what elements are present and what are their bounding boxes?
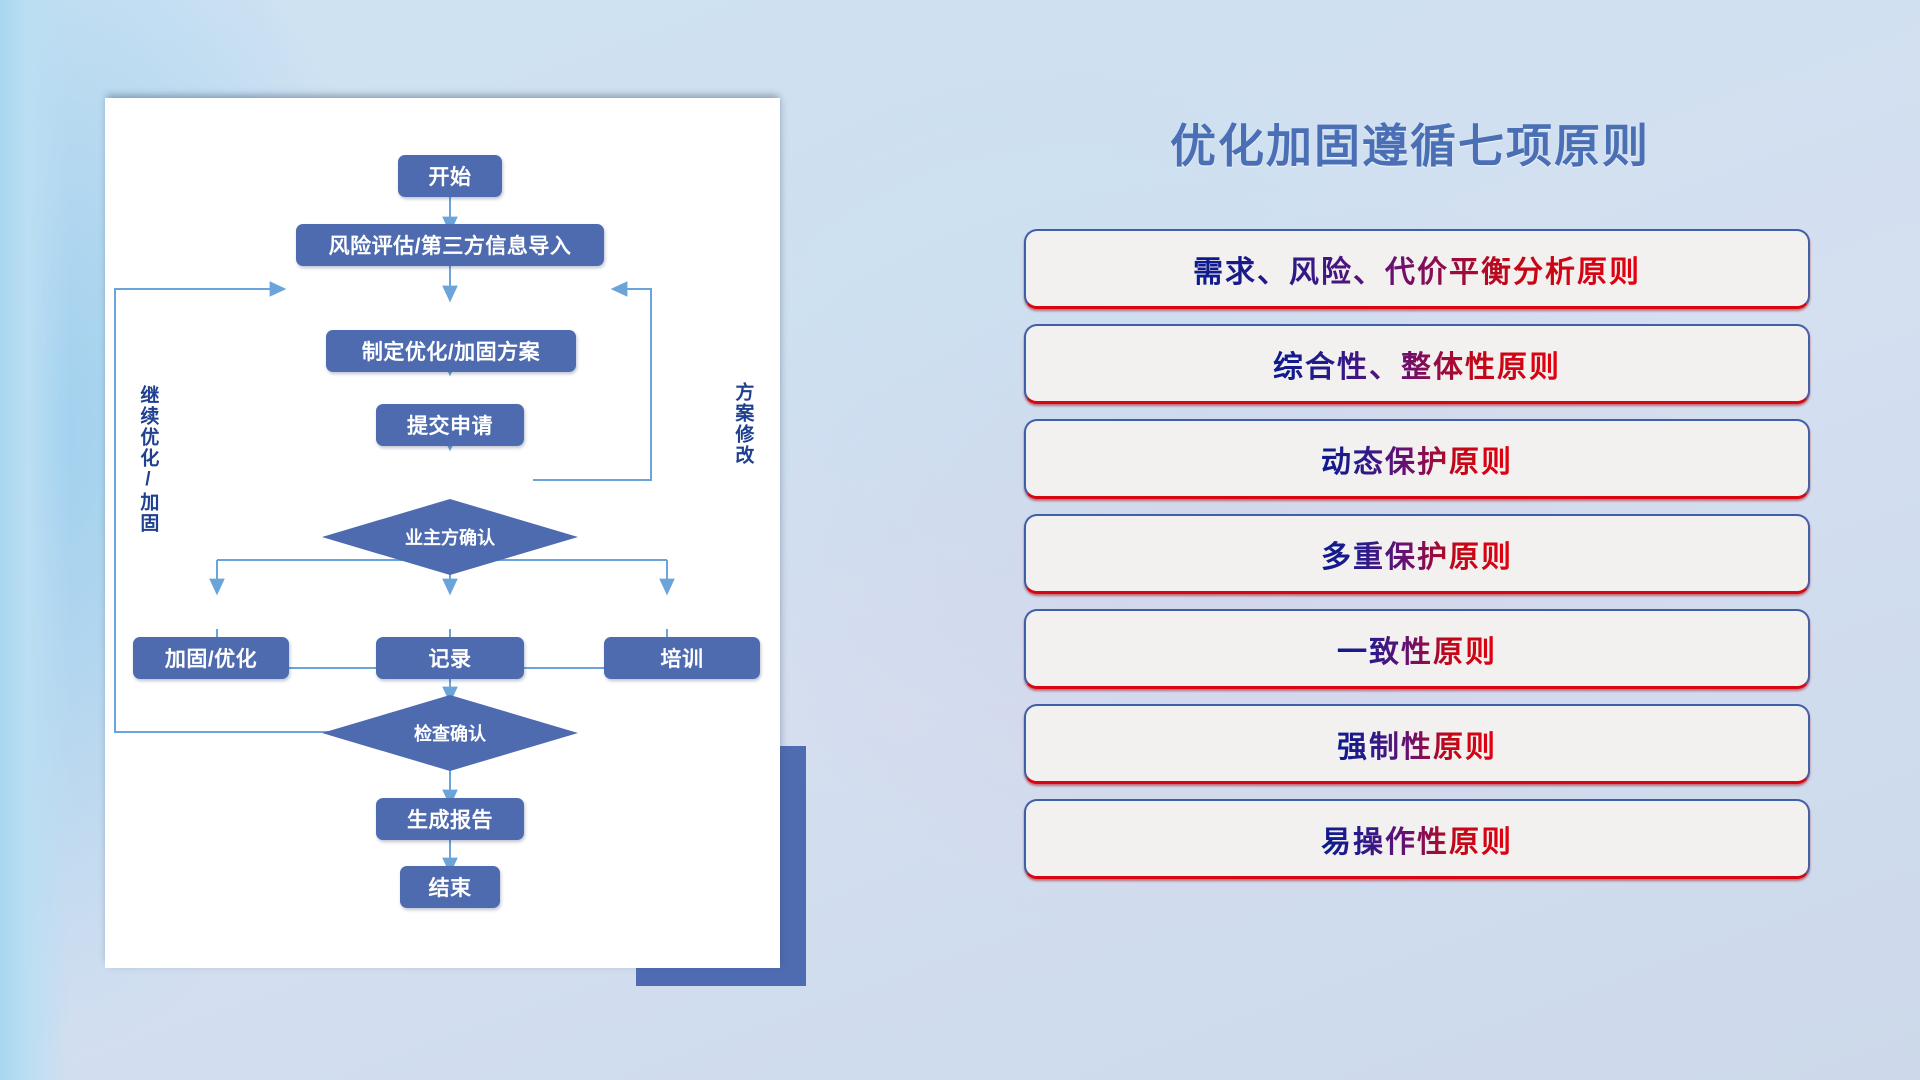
flow-edge-label-continue-optimize: 继续优化/加固 bbox=[138, 385, 157, 534]
principle-card-5[interactable]: 一致性原则 bbox=[1024, 609, 1810, 689]
principles-list: 需求、风险、代价平衡分析原则 综合性、整体性原则 动态保护原则 多重保护原则 一… bbox=[1024, 229, 1810, 894]
principle-card-4[interactable]: 多重保护原则 bbox=[1024, 514, 1810, 594]
principle-card-3[interactable]: 动态保护原则 bbox=[1024, 419, 1810, 499]
flow-edge-label-plan-revision: 方案修改 bbox=[733, 382, 752, 466]
principle-card-7-label: 易操作性原则 bbox=[1321, 817, 1513, 861]
flow-node-train-label: 培训 bbox=[661, 643, 704, 673]
flow-node-end-label: 结束 bbox=[429, 872, 472, 902]
principles-panel: 优化加固遵循七项原则 需求、风险、代价平衡分析原则 综合性、整体性原则 动态保护… bbox=[900, 0, 1920, 1080]
flow-node-start-label: 开始 bbox=[429, 161, 472, 191]
flow-node-report-label: 生成报告 bbox=[407, 804, 493, 834]
flow-node-end[interactable]: 结束 bbox=[400, 866, 500, 908]
principle-card-3-label: 动态保护原则 bbox=[1321, 437, 1513, 481]
flow-node-start[interactable]: 开始 bbox=[398, 155, 502, 197]
panel-title: 优化加固遵循七项原则 bbox=[900, 110, 1920, 176]
principle-card-4-label: 多重保护原则 bbox=[1321, 532, 1513, 576]
principle-card-6[interactable]: 强制性原则 bbox=[1024, 704, 1810, 784]
slide-canvas: 开始 风险评估/第三方信息导入 制定优化/加固方案 提交申请 业主方确认 加固/… bbox=[0, 0, 1920, 1080]
flow-node-record-label: 记录 bbox=[429, 643, 472, 673]
principle-card-5-label: 一致性原则 bbox=[1337, 627, 1497, 671]
principle-card-2-label: 综合性、整体性原则 bbox=[1273, 342, 1561, 386]
flow-node-record[interactable]: 记录 bbox=[376, 637, 524, 679]
flowchart-region: 开始 风险评估/第三方信息导入 制定优化/加固方案 提交申请 业主方确认 加固/… bbox=[0, 0, 900, 1080]
principle-card-7[interactable]: 易操作性原则 bbox=[1024, 799, 1810, 879]
flow-node-owner-confirm[interactable]: 业主方确认 bbox=[322, 499, 578, 575]
flow-node-report[interactable]: 生成报告 bbox=[376, 798, 524, 840]
principle-card-1-label: 需求、风险、代价平衡分析原则 bbox=[1193, 247, 1641, 291]
principle-card-6-label: 强制性原则 bbox=[1337, 722, 1497, 766]
flow-node-harden-label: 加固/优化 bbox=[165, 643, 257, 673]
flow-node-harden[interactable]: 加固/优化 bbox=[133, 637, 289, 679]
flow-node-owner-confirm-label: 业主方确认 bbox=[405, 524, 495, 550]
flow-node-plan-label: 制定优化/加固方案 bbox=[362, 336, 540, 366]
flow-node-assess[interactable]: 风险评估/第三方信息导入 bbox=[296, 224, 604, 266]
principle-card-2[interactable]: 综合性、整体性原则 bbox=[1024, 324, 1810, 404]
flow-node-check-confirm[interactable]: 检查确认 bbox=[322, 695, 578, 771]
flow-node-submit-label: 提交申请 bbox=[407, 410, 493, 440]
flow-node-train[interactable]: 培训 bbox=[604, 637, 760, 679]
flow-node-submit[interactable]: 提交申请 bbox=[376, 404, 524, 446]
principle-card-1[interactable]: 需求、风险、代价平衡分析原则 bbox=[1024, 229, 1810, 309]
flow-node-check-confirm-label: 检查确认 bbox=[414, 720, 486, 746]
flow-node-assess-label: 风险评估/第三方信息导入 bbox=[329, 230, 572, 260]
flow-node-plan[interactable]: 制定优化/加固方案 bbox=[326, 330, 576, 372]
